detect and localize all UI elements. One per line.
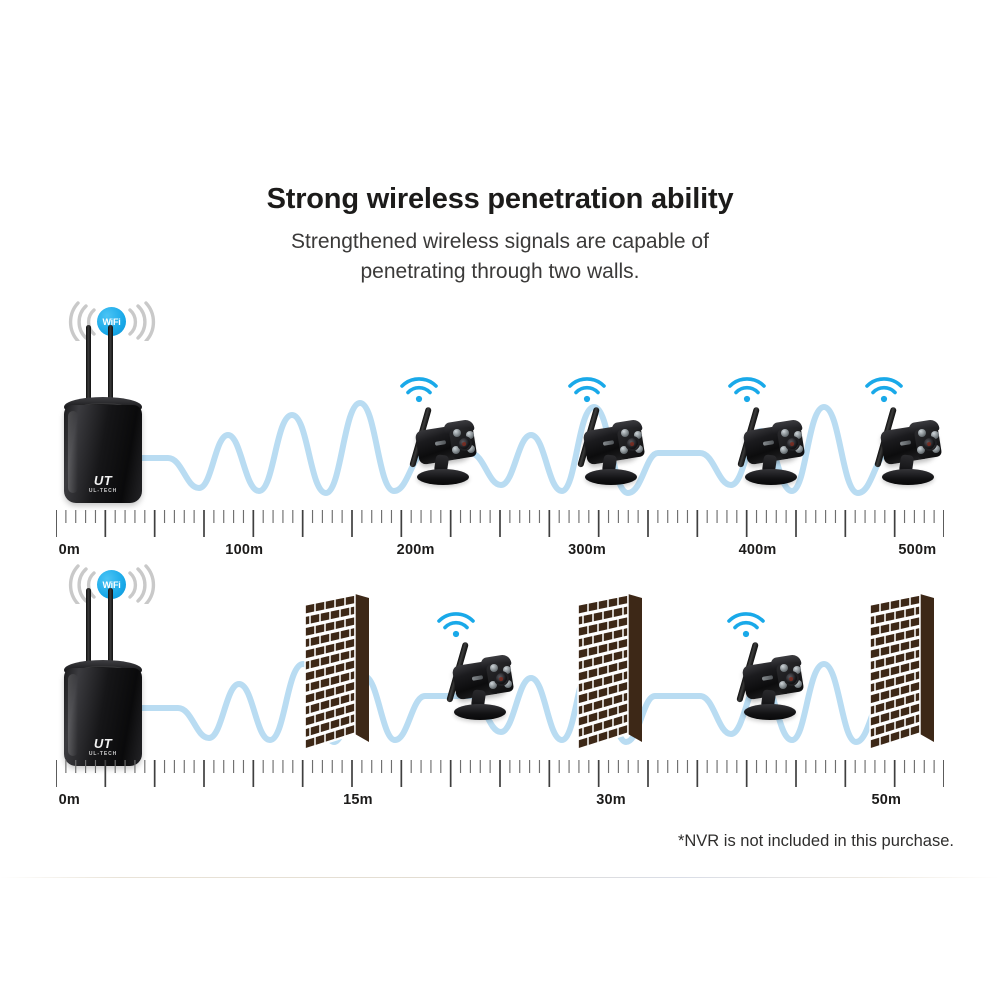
camera-ir-led (917, 446, 925, 454)
brick-wall-icon (576, 592, 646, 752)
camera-walls-1 (432, 616, 528, 734)
subtitle-line-2: penetrating through two walls. (0, 257, 1000, 287)
brand-mark-primary: UT (64, 737, 142, 750)
ruler-tick-label: 50m (871, 792, 901, 808)
camera-mount-base (882, 469, 934, 485)
page-title: Strong wireless penetration ability (0, 182, 1000, 217)
brand-mark-primary: UT (64, 474, 142, 487)
subtitle-line-1: Strengthened wireless signals are capabl… (0, 227, 1000, 257)
camera-mount-base (745, 469, 797, 485)
camera-wifi-icon (725, 375, 769, 403)
scenario-open-space: WiFi UT UL-TECH (0, 295, 1000, 510)
camera-ir-led (452, 446, 460, 454)
camera-open-4 (860, 381, 956, 499)
ruler-ticks-open (56, 510, 944, 540)
brick-wall-1 (303, 592, 373, 752)
ruler-labels-walls: 0m15m30m50m (56, 792, 944, 812)
camera-ir-led (780, 664, 788, 672)
nvr-body: UT UL-TECH (64, 405, 142, 503)
ruler-tick-label: 15m (343, 792, 373, 808)
camera-wifi-icon (724, 610, 768, 638)
nvr-device-open: WiFi UT UL-TECH (52, 297, 172, 507)
camera-mount-base (417, 469, 469, 485)
ruler-tick-label: 300m (568, 542, 606, 558)
ruler-tick-label: 500m (898, 542, 936, 558)
ruler-tick-label: 100m (225, 542, 263, 558)
camera-open-2 (563, 381, 659, 499)
camera-walls-2 (722, 616, 818, 734)
brick-wall-icon (868, 592, 938, 752)
ruler-tick-label: 0m (59, 542, 80, 558)
camera-ir-led (490, 664, 498, 672)
nvr-brand-logo: UT UL-TECH (64, 474, 142, 494)
camera-ir-led (781, 429, 789, 437)
brand-mark-secondary: UL-TECH (64, 752, 142, 757)
footnote-text: *NVR is not included in this purchase. (678, 832, 954, 851)
header-block: Strong wireless penetration ability Stre… (0, 182, 1000, 286)
ruler-tick-label: 30m (596, 792, 626, 808)
camera-wifi-icon (434, 610, 478, 638)
ruler-ticks-walls (56, 760, 944, 790)
bottom-divider (0, 877, 1000, 878)
camera-ir-led (779, 681, 787, 689)
camera-wifi-icon (565, 375, 609, 403)
camera-ir-led (621, 429, 629, 437)
ruler-open-space: 0m100m200m300m400m500m (56, 510, 944, 560)
brick-wall-3 (868, 592, 938, 752)
camera-wifi-icon (862, 375, 906, 403)
camera-ir-led (780, 446, 788, 454)
camera-open-3 (723, 381, 819, 499)
nvr-brand-logo: UT UL-TECH (64, 737, 142, 757)
ruler-labels-open: 0m100m200m300m400m500m (56, 542, 944, 562)
ruler-tick-label: 200m (397, 542, 435, 558)
camera-open-1 (395, 381, 491, 499)
camera-ir-led (918, 429, 926, 437)
camera-ir-led (453, 429, 461, 437)
scenario-through-walls: WiFi UT UL-TECH (0, 560, 1000, 760)
page-subtitle: Strengthened wireless signals are capabl… (0, 227, 1000, 287)
brand-mark-secondary: UL-TECH (64, 489, 142, 494)
brick-wall-icon (303, 592, 373, 752)
nvr-device-walls: WiFi UT UL-TECH (52, 560, 172, 770)
camera-mount-base (454, 704, 506, 720)
ruler-tick-label: 400m (739, 542, 777, 558)
camera-mount-base (585, 469, 637, 485)
ruler-tick-label: 0m (59, 792, 80, 808)
camera-ir-led (489, 681, 497, 689)
camera-wifi-icon (397, 375, 441, 403)
nvr-body: UT UL-TECH (64, 668, 142, 766)
camera-ir-led (620, 446, 628, 454)
camera-mount-base (744, 704, 796, 720)
infographic-canvas: Strong wireless penetration ability Stre… (0, 0, 1000, 1000)
brick-wall-2 (576, 592, 646, 752)
ruler-through-walls: 0m15m30m50m (56, 760, 944, 810)
